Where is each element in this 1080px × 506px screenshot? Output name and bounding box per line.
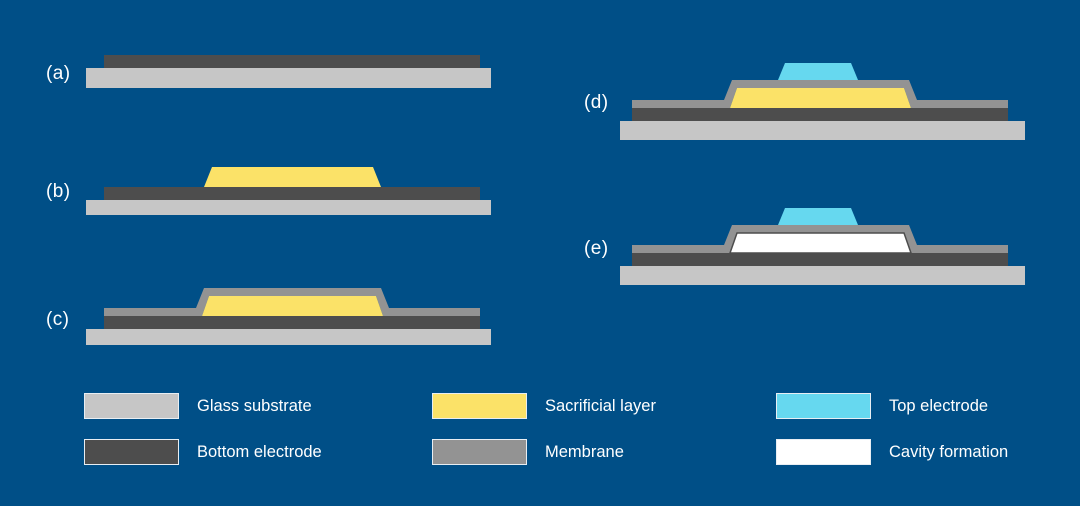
- panel-b-cross-section: [86, 145, 496, 215]
- panel-a: (a): [0, 0, 540, 110]
- legend-item-membrane: Membrane: [432, 438, 624, 466]
- top-electrode-layer: [778, 63, 858, 80]
- bottom-electrode-layer: [632, 253, 1008, 266]
- panel-d: (d): [540, 20, 1080, 130]
- legend-swatch-bottom-electrode: [84, 439, 179, 465]
- legend-swatch-membrane: [432, 439, 527, 465]
- cavity-region: [730, 233, 911, 253]
- legend-label-membrane: Membrane: [545, 444, 624, 461]
- panel-d-cross-section: [620, 40, 1030, 140]
- top-electrode-layer: [778, 208, 858, 225]
- glass-substrate-layer: [620, 266, 1025, 285]
- panel-a-label: (a): [46, 64, 70, 83]
- bottom-electrode-layer: [104, 55, 480, 68]
- legend-label-cavity-formation: Cavity formation: [889, 444, 1008, 461]
- glass-substrate-layer: [86, 200, 491, 215]
- legend-item-sacrificial-layer: Sacrificial layer: [432, 392, 656, 420]
- legend-label-glass-substrate: Glass substrate: [197, 398, 312, 415]
- legend: Glass substrate Bottom electrode Sacrifi…: [84, 392, 1044, 474]
- legend-swatch-cavity-formation: [776, 439, 871, 465]
- panel-b: (b): [0, 115, 540, 225]
- glass-substrate-layer: [86, 68, 491, 88]
- panel-e: (e): [540, 165, 1080, 275]
- glass-substrate-layer: [620, 121, 1025, 140]
- panel-d-label: (d): [584, 93, 608, 112]
- bottom-electrode-layer: [104, 316, 480, 329]
- panel-e-cross-section: [620, 185, 1030, 285]
- bottom-electrode-layer: [632, 108, 1008, 121]
- legend-label-top-electrode: Top electrode: [889, 398, 988, 415]
- glass-substrate-layer: [86, 329, 491, 345]
- legend-item-top-electrode: Top electrode: [776, 392, 988, 420]
- sacrificial-layer: [204, 167, 381, 187]
- panel-b-label: (b): [46, 182, 70, 201]
- legend-swatch-glass-substrate: [84, 393, 179, 419]
- legend-item-bottom-electrode: Bottom electrode: [84, 438, 322, 466]
- panel-c: (c): [0, 245, 540, 355]
- legend-swatch-sacrificial-layer: [432, 393, 527, 419]
- panel-c-cross-section: [86, 261, 496, 345]
- panel-c-label: (c): [46, 310, 69, 329]
- legend-label-bottom-electrode: Bottom electrode: [197, 444, 322, 461]
- legend-swatch-top-electrode: [776, 393, 871, 419]
- sacrificial-layer: [202, 296, 383, 316]
- legend-label-sacrificial-layer: Sacrificial layer: [545, 398, 656, 415]
- legend-item-glass-substrate: Glass substrate: [84, 392, 312, 420]
- panel-a-cross-section: [86, 48, 496, 96]
- legend-item-cavity-formation: Cavity formation: [776, 438, 1008, 466]
- sacrificial-layer: [730, 88, 911, 108]
- panel-e-label: (e): [584, 239, 608, 258]
- bottom-electrode-layer: [104, 187, 480, 200]
- process-flow-diagram: (a) (b) (c) (d): [0, 0, 1080, 506]
